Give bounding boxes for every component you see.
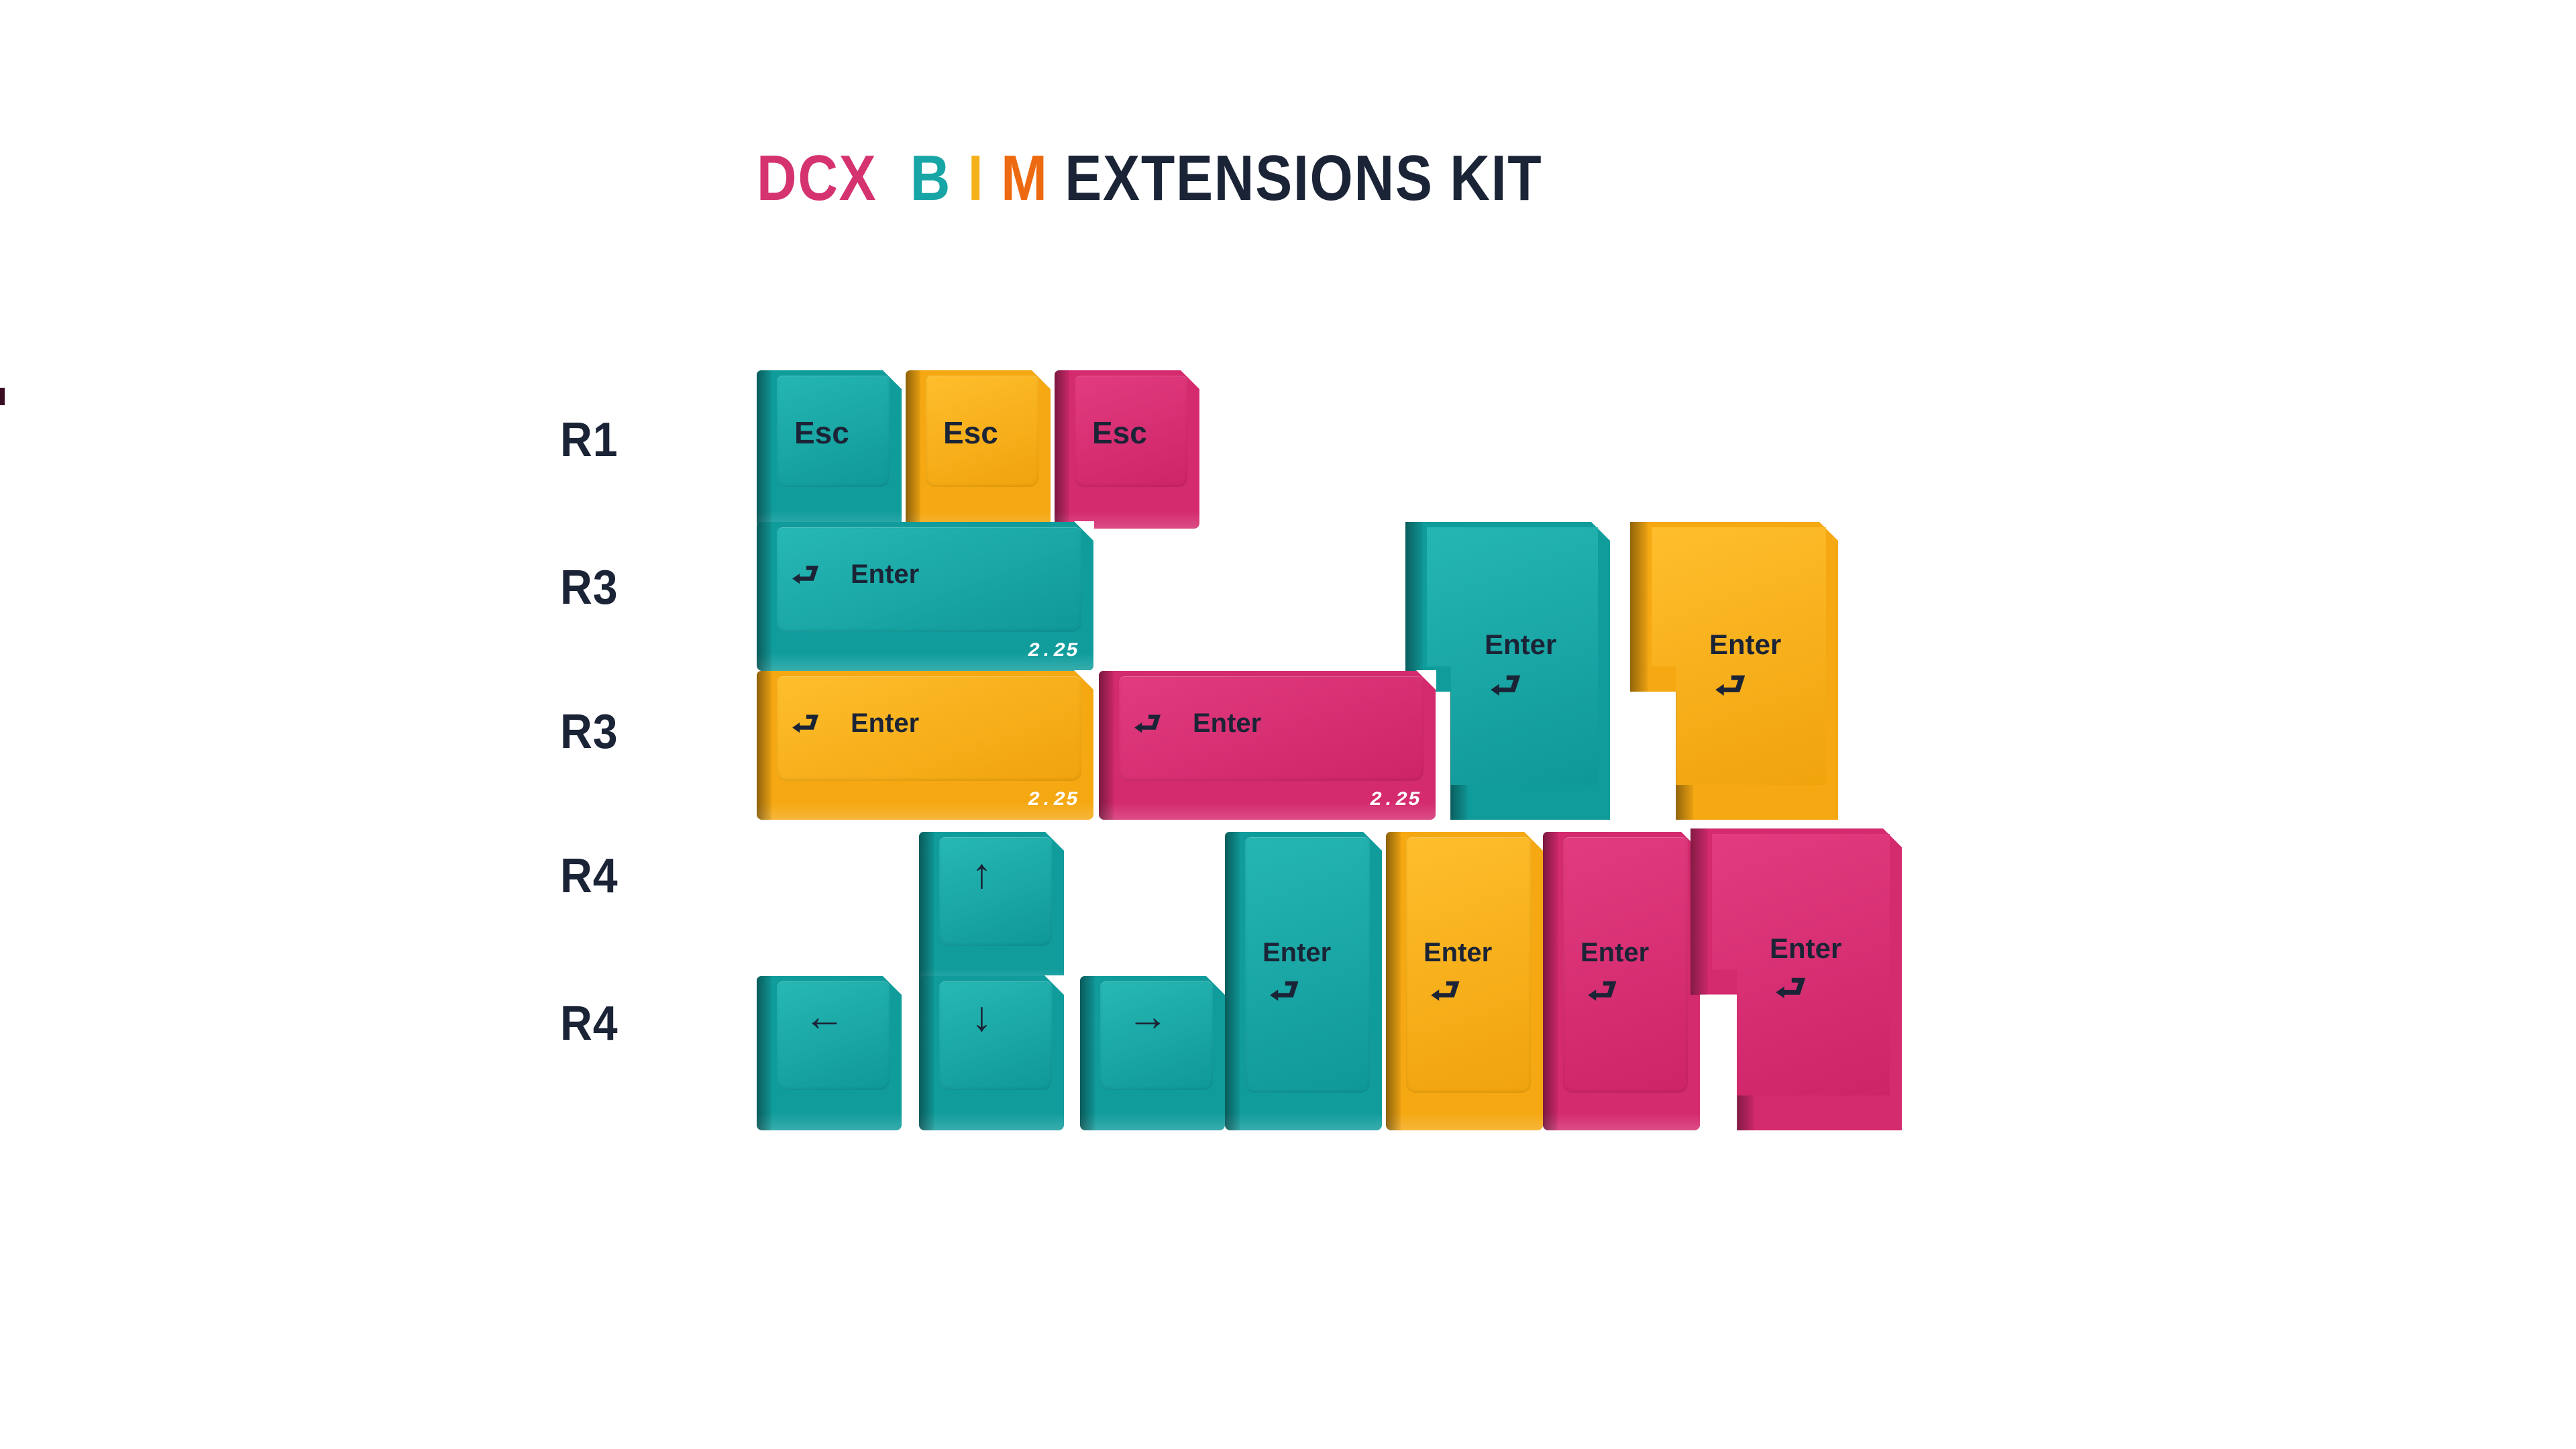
keycap-legend: Enter [1485, 631, 1556, 659]
keycap-arrow-left[interactable]: ← [757, 976, 902, 1130]
title-segment-dcx: DCX [757, 146, 877, 211]
keycap-tall-enter-teal[interactable]: Enter ⮐ [1225, 832, 1382, 1130]
keycap-enter-pink-225[interactable]: ⮐ Enter 2.25 [1099, 671, 1436, 820]
keycap-legend: Enter [1424, 939, 1492, 966]
enter-return-icon: ⮐ [1587, 974, 1617, 1008]
keycap-arrow-down[interactable]: ↓ [919, 976, 1064, 1130]
keycap-unit-label: 2.25 [1370, 790, 1421, 810]
keycap-enter-teal-225[interactable]: ⮐ Enter 2.25 [757, 522, 1093, 671]
keycap-arrow-right[interactable]: → [1080, 976, 1225, 1130]
keycap-legend: Enter [851, 561, 919, 588]
keycap-iso-enter-orange[interactable]: Enter ⮐ [1630, 522, 1838, 820]
arrow-down-icon: ↓ [971, 996, 992, 1038]
arrow-right-icon: → [1127, 996, 1169, 1038]
keycap-tall-enter-pink[interactable]: Enter ⮐ [1543, 832, 1700, 1130]
keycap-legend: Esc [794, 417, 849, 448]
row-label-r4b: R4 [560, 996, 619, 1051]
title-segment-rest: EXTENSIONS KIT [1065, 146, 1542, 211]
row-label-r3b: R3 [560, 704, 619, 759]
enter-return-icon: ⮐ [1134, 708, 1161, 739]
keycap-esc-orange[interactable]: Esc [906, 370, 1051, 529]
keycap-tall-enter-orange[interactable]: Enter ⮐ [1386, 832, 1543, 1130]
keycap-arrow-up[interactable]: ↑ [919, 832, 1064, 986]
keycap-left-shade [1405, 522, 1423, 692]
keycap-unit-label: 2.25 [1028, 790, 1079, 810]
enter-return-icon: ⮐ [1269, 974, 1299, 1008]
title-segment-i: I [968, 146, 985, 211]
keycap-top-face [777, 527, 1081, 632]
keycap-top-face [1712, 834, 1890, 1095]
keycap-legend: Esc [943, 417, 998, 448]
enter-return-icon: ⮐ [1490, 668, 1521, 703]
enter-return-icon: ⮐ [792, 559, 819, 590]
row-label-r4a: R4 [560, 849, 619, 904]
keycap-top-face [939, 981, 1052, 1090]
keycap-esc-teal[interactable]: Esc [757, 370, 902, 529]
enter-return-icon: ⮐ [1430, 974, 1460, 1008]
row-label-r3a: R3 [560, 560, 619, 615]
enter-return-icon: ⮐ [1775, 971, 1807, 1006]
keycap-legend: Esc [1092, 417, 1147, 448]
keycap-esc-pink[interactable]: Esc [1055, 370, 1199, 529]
keycap-legend: Enter [851, 710, 919, 737]
arrow-left-icon: ← [804, 996, 845, 1038]
keycap-legend: Enter [1263, 939, 1331, 966]
keycap-legend: Enter [1580, 939, 1649, 966]
page-title: DCX B I M EXTENSIONS KIT [757, 146, 1542, 211]
keycap-top-face [1119, 676, 1424, 781]
keycap-legend: Enter [1709, 631, 1781, 659]
keycap-unit-label: 2.25 [1028, 641, 1079, 661]
arrow-up-icon: ↑ [971, 853, 992, 895]
keycap-legend: Enter [1193, 710, 1261, 737]
keycap-left-shade [1690, 828, 1708, 995]
keycap-enter-orange-225[interactable]: ⮐ Enter 2.25 [757, 671, 1093, 820]
keycap-left-shade [1630, 522, 1648, 692]
title-segment-b: B [910, 146, 951, 211]
enter-return-icon: ⮐ [1715, 668, 1746, 703]
keycap-top-face [939, 837, 1052, 946]
keycap-kit-poster: DCX B I M EXTENSIONS KIT R1 R3 R3 R4 R4 … [0, 0, 2576, 1449]
keycap-iso-enter-pink[interactable]: Enter ⮐ [1690, 828, 1902, 1130]
title-segment-m: M [1001, 146, 1048, 211]
edge-artifact [0, 388, 5, 405]
keycap-legend: Enter [1770, 934, 1841, 963]
keycap-top-face [777, 676, 1081, 781]
enter-return-icon: ⮐ [792, 708, 819, 739]
row-label-r1: R1 [560, 413, 619, 468]
